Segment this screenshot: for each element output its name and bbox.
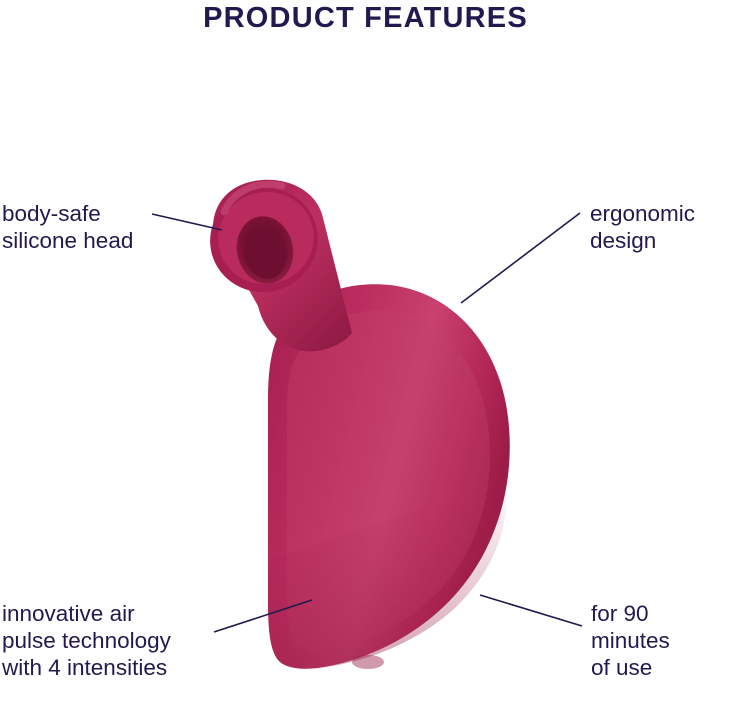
callout-ergonomic-design: ergonomic design <box>590 200 695 254</box>
leader-line-innovative <box>214 600 312 632</box>
leader-lines <box>0 0 731 702</box>
leader-line-90-minutes <box>480 595 582 626</box>
callout-body-safe-silicone-head: body-safe silicone head <box>2 200 133 254</box>
leader-line-ergonomic <box>461 213 580 303</box>
callout-for-90-minutes-of-use: for 90 minutes of use <box>591 600 670 681</box>
callout-innovative-air-pulse-technology: innovative air pulse technology with 4 i… <box>2 600 171 681</box>
leader-line-body-safe <box>152 214 222 230</box>
product-features-infographic: PRODUCT FEATURES <box>0 0 731 702</box>
